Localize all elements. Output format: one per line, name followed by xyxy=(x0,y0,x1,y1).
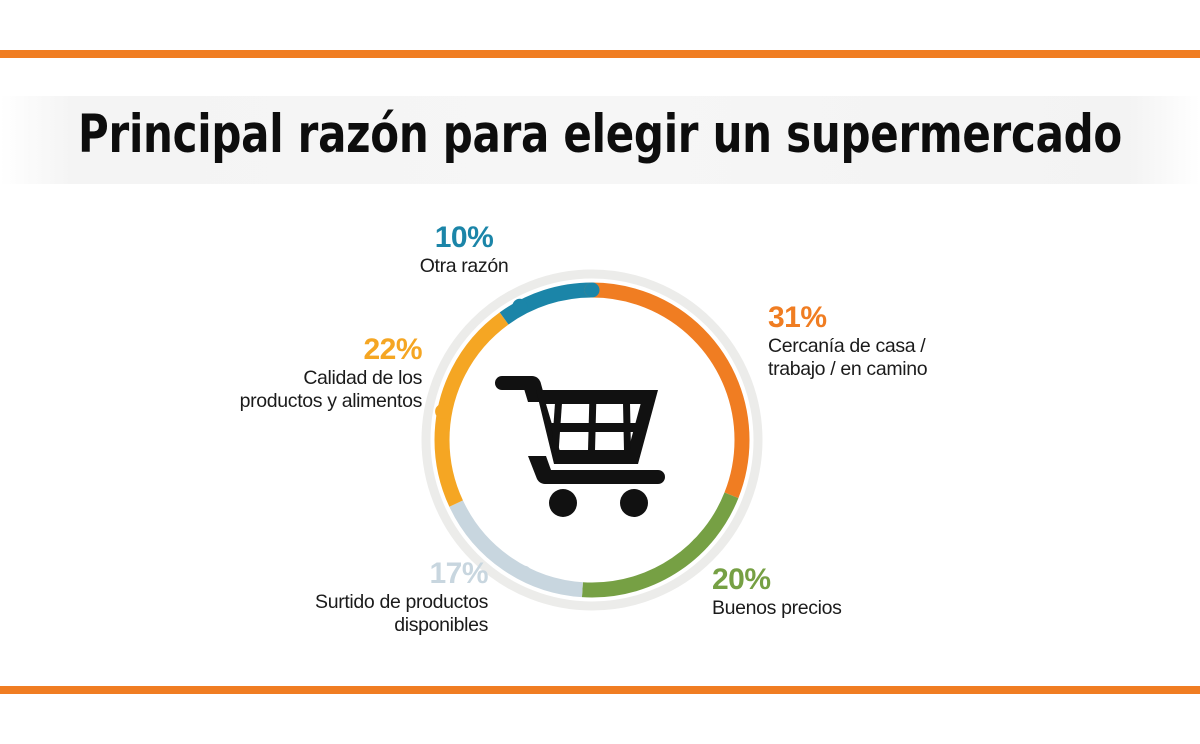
bottom-accent-rule xyxy=(0,686,1200,694)
page-title: Principal razón para elegir un supermerc… xyxy=(72,104,1128,165)
callout-surtido-label-line1: Surtido de productos xyxy=(222,591,488,614)
callout-otra-razon: 10% Otra razón xyxy=(334,220,594,278)
callout-otra-label-line1: Otra razón xyxy=(334,255,594,278)
shopping-cart-icon xyxy=(495,376,665,517)
callout-otra-percent: 10% xyxy=(334,220,594,255)
callout-surtido-percent: 17% xyxy=(222,556,488,591)
callout-surtido: 17% Surtido de productos disponibles xyxy=(222,556,488,637)
callout-precios: 20% Buenos precios xyxy=(712,562,842,620)
callout-calidad-label-line1: Calidad de los xyxy=(150,367,422,390)
infographic-page: Principal razón para elegir un supermerc… xyxy=(0,0,1200,744)
callout-cercania: 31% Cercanía de casa / trabajo / en cami… xyxy=(768,300,927,381)
callout-precios-percent: 20% xyxy=(712,562,842,597)
callout-cercania-label-line1: Cercanía de casa / xyxy=(768,335,927,358)
top-accent-rule xyxy=(0,50,1200,58)
callout-calidad: 22% Calidad de los productos y alimentos xyxy=(150,332,422,413)
callout-calidad-label-line2: productos y alimentos xyxy=(150,390,422,413)
callout-cercania-percent: 31% xyxy=(768,300,927,335)
callout-precios-label-line1: Buenos precios xyxy=(712,597,842,620)
callout-surtido-label-line2: disponibles xyxy=(222,614,488,637)
callout-calidad-percent: 22% xyxy=(150,332,422,367)
callout-cercania-label-line2: trabajo / en camino xyxy=(768,358,927,381)
